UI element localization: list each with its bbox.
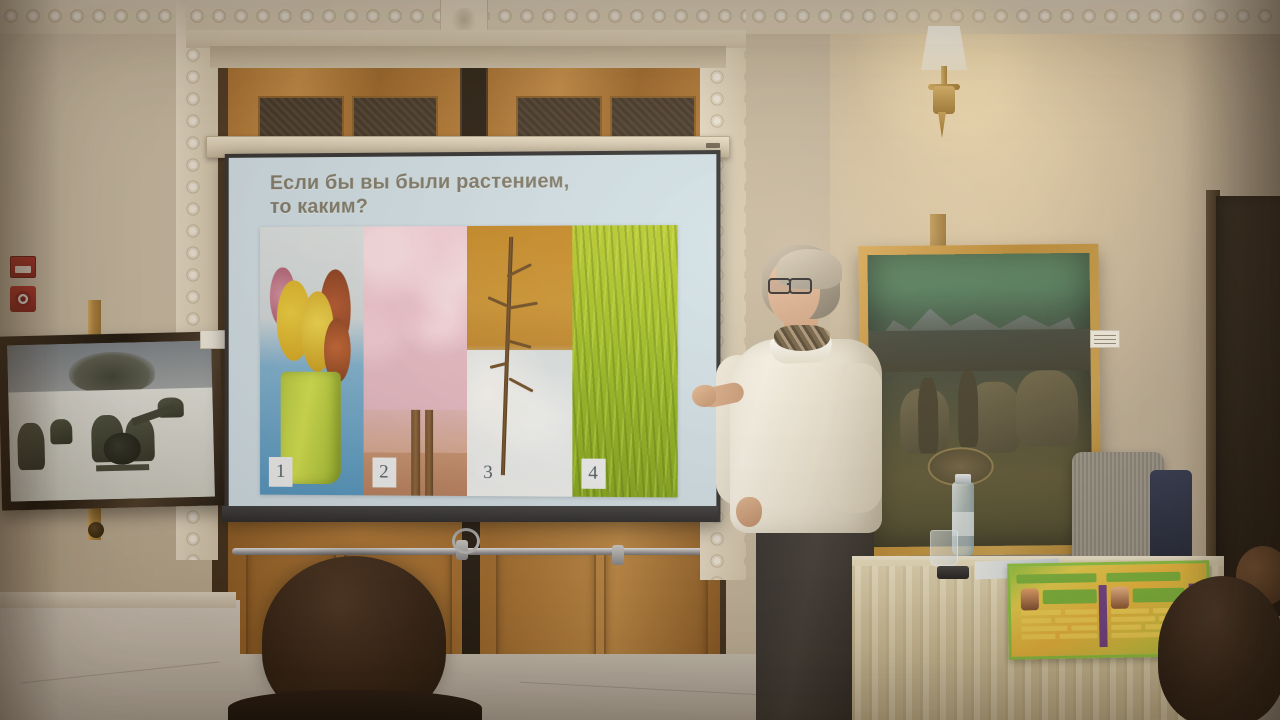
poster-avatar <box>1021 588 1039 610</box>
poster-text-block <box>1111 624 1141 630</box>
glasses-bridge <box>787 283 791 285</box>
painting-figure <box>957 371 978 447</box>
painting-ridge <box>868 329 1090 372</box>
poster-text-block <box>1065 609 1097 615</box>
screen-casing-notch <box>706 143 720 148</box>
drinking-glass <box>930 530 958 566</box>
glasses-icon <box>789 278 812 294</box>
poster-divider <box>1099 585 1108 647</box>
exhibit-label-right <box>1090 330 1120 348</box>
poster-strip <box>1016 573 1096 583</box>
tree-branch <box>506 339 531 349</box>
grass-blades <box>572 225 678 497</box>
painting-horse <box>1015 370 1078 447</box>
poster-text-block <box>1071 625 1097 630</box>
slide-title-line-1: Если бы вы были растением, <box>270 169 670 196</box>
poster-text-block <box>1111 608 1149 614</box>
tree-branch <box>487 296 507 307</box>
poster-text-block <box>1021 610 1061 616</box>
painting-artillery-wheel <box>103 433 140 465</box>
poster-avatar <box>1111 587 1129 609</box>
audience-shoulders-left <box>228 690 482 720</box>
slide-photo-number: 3 <box>476 458 500 488</box>
left-shadow <box>0 0 60 720</box>
painting-sled <box>96 464 149 472</box>
door-arch-inner <box>210 46 726 68</box>
presenter-clicker <box>937 566 969 579</box>
handrail-ring <box>452 528 480 554</box>
slide: Если бы вы были растением, то каким? 1 <box>229 154 717 512</box>
tree-branch <box>506 301 538 309</box>
slide-title-line-2: то каким? <box>270 193 670 220</box>
slide-photo-2-blossom-tree: 2 <box>363 226 467 496</box>
presentation-room-photo: Если бы вы были растением, то каким? 1 <box>0 0 1280 720</box>
projection-surface: Если бы вы были растением, то каким? 1 <box>229 154 717 512</box>
presenter-scarf <box>774 325 830 351</box>
slide-title: Если бы вы были растением, то каким? <box>270 169 670 220</box>
poster-text-block <box>1059 633 1097 639</box>
poster-strip <box>1043 589 1097 604</box>
slide-photo-strip: 1 2 <box>260 225 678 497</box>
slide-photo-number: 4 <box>581 459 605 489</box>
presenter-hand-lowered <box>736 497 762 527</box>
sconce-backplate <box>933 86 955 114</box>
poster-text-block <box>1111 616 1155 622</box>
poster-text-block <box>1111 632 1159 638</box>
slide-photo-number: 2 <box>372 457 396 487</box>
poster-strip <box>1106 572 1180 582</box>
poster-text-block <box>1021 634 1055 640</box>
poster-text-block <box>1021 626 1067 632</box>
blossom-canopy <box>363 226 467 410</box>
glasses-icon <box>768 278 791 294</box>
presenter-sleeve-right <box>828 363 882 513</box>
projector-screen-bottom-bar <box>222 506 718 522</box>
slide-photo-1-flowers: 1 <box>260 227 363 496</box>
handrail-bracket <box>612 545 624 565</box>
easel-knob <box>88 522 104 538</box>
projector-screen: Если бы вы были растением, то каким? 1 <box>225 150 721 522</box>
painting-figure <box>918 377 939 453</box>
slide-photo-4-grass: 4 <box>572 225 678 497</box>
poster-text-block <box>1021 618 1051 624</box>
right-shadow <box>1180 0 1280 720</box>
painting-right-frame <box>858 244 1101 556</box>
water-bottle-cap <box>955 474 971 484</box>
painting-right-canvas <box>867 253 1092 547</box>
slide-photo-3-bare-tree-snow: 3 <box>467 226 572 497</box>
slide-photo-number: 1 <box>269 457 293 487</box>
sconce-shade <box>921 26 967 70</box>
painting-smoke <box>69 351 156 394</box>
handrail <box>232 548 726 555</box>
presenter-hand-raised <box>692 385 716 407</box>
poster-text-block <box>1055 617 1097 623</box>
